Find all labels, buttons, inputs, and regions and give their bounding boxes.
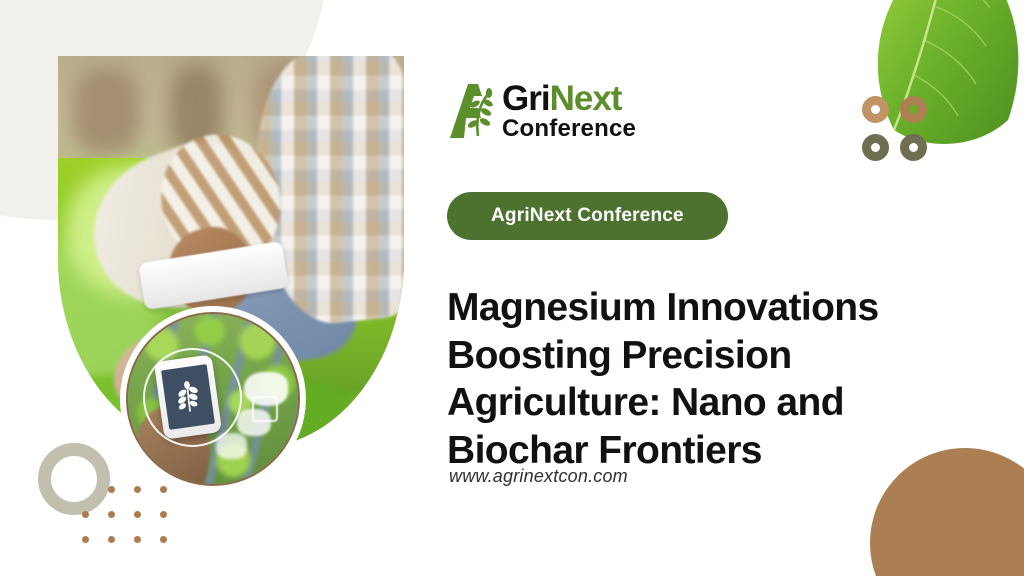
grid-dot [134,486,141,493]
grid-dot [160,511,167,518]
agrinext-wheat-a-icon [448,82,500,140]
grid-dot [108,486,115,493]
inset-photo-frame [120,306,306,492]
grid-dot [108,536,115,543]
grid-dot [160,536,167,543]
inset-photo [126,312,300,486]
grid-dot [160,486,167,493]
grid-dot [134,536,141,543]
logo-line-one: GriNext [502,81,636,116]
conference-badge: AgriNext Conference [447,192,728,240]
agrinext-logo: GriNext Conference [448,80,636,142]
dot-grid-decoration [76,486,186,548]
grid-dot [108,511,115,518]
logo-next-text: Next [550,79,622,118]
page-title: Magnesium Innovations Boosting Precision… [447,284,937,474]
grid-dot [82,511,89,518]
banner-canvas: GriNext Conference AgriNext Conference M… [0,0,1024,576]
website-url[interactable]: www.agrinextcon.com [449,466,628,487]
logo-conference-text: Conference [502,117,636,141]
highlight-ring-overlay [143,348,242,447]
logo-gri-text: Gri [502,79,550,118]
logo-wordmark: GriNext Conference [502,81,636,141]
grid-dot [134,511,141,518]
sensor-node-icon [252,396,278,422]
content-column: GriNext Conference AgriNext Conference M… [447,0,967,576]
grid-dot [82,536,89,543]
